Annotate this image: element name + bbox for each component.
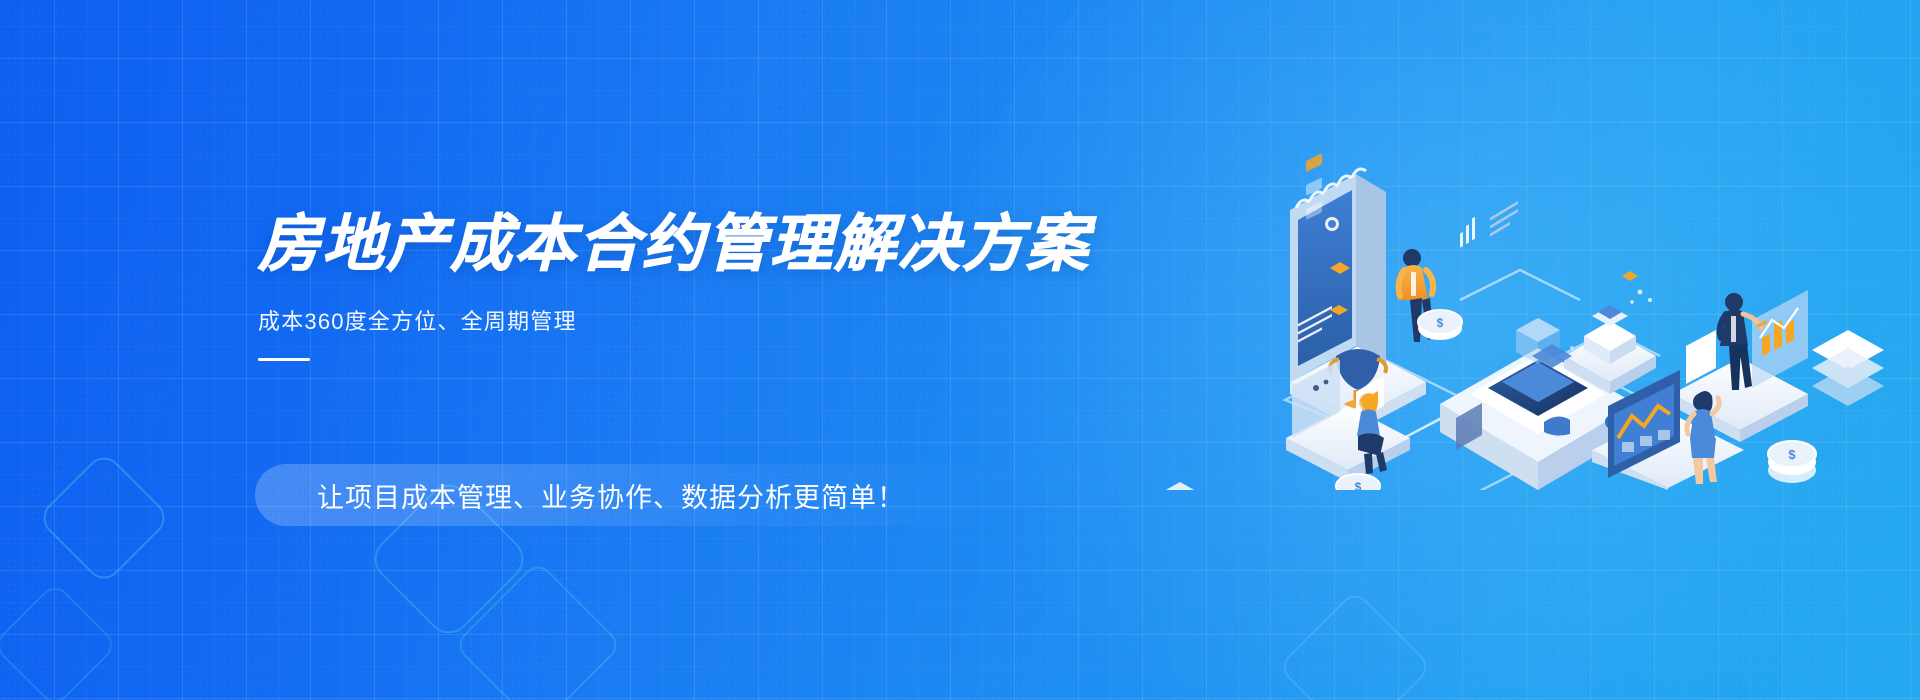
node-chart-platform: [1672, 150, 1808, 442]
svg-text:$: $: [1355, 480, 1362, 490]
decorative-diamond: [0, 581, 119, 700]
divider-rule: [258, 358, 310, 361]
node-cube-stack: [1564, 271, 1656, 394]
svg-text:$: $: [1788, 447, 1796, 462]
svg-text:$: $: [1437, 316, 1444, 330]
dollar-coin-stack: $: [1418, 310, 1462, 340]
decorative-diamond: [1277, 589, 1433, 700]
decorative-diamond: [453, 560, 623, 700]
floating-card-stack: [1148, 482, 1212, 490]
dollar-coin-stack: $: [1336, 474, 1380, 490]
tagline-text: 让项目成本管理、业务协作、数据分析更简单！: [317, 476, 905, 515]
banner-subheadline: 成本360度全方位、全周期管理: [258, 304, 1078, 336]
decorative-diamond: [36, 450, 172, 586]
calendar-checklist-panel: [1290, 153, 1386, 382]
banner-headline: 房地产成本合约管理解决方案: [258, 212, 1078, 278]
dollar-coin-stack: $: [1768, 441, 1816, 483]
floating-card-stack: [1812, 330, 1884, 406]
hero-illustration: $ $ $: [1140, 150, 1920, 490]
bar-chart-screen: [1752, 290, 1808, 388]
tagline-pill: 让项目成本管理、业务协作、数据分析更简单！: [255, 464, 1015, 526]
banner-copy-block: 房地产成本合约管理解决方案 成本360度全方位、全周期管理: [258, 212, 1078, 361]
hero-banner: 房地产成本合约管理解决方案 成本360度全方位、全周期管理 让项目成本管理、业务…: [0, 0, 1920, 700]
document-card: [1686, 150, 1716, 384]
